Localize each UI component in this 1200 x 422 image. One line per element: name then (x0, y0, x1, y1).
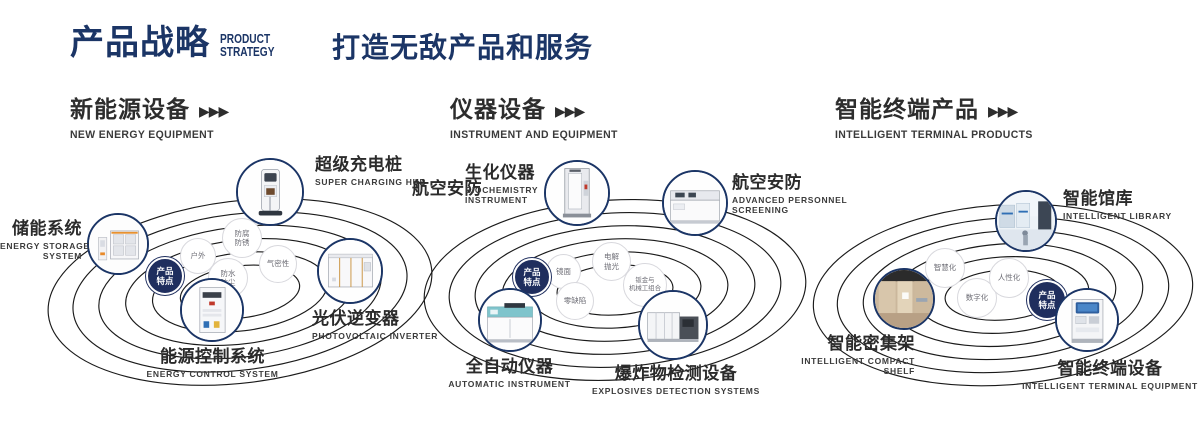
section-heading-intelligent: 智能终端产品 ▶▶▶ INTELLIGENT TERMINAL PRODUCTS (835, 98, 1043, 141)
caption-cn: 能源控制系统 (130, 348, 295, 366)
caption-en-line2: INSTRUMENT (465, 195, 585, 206)
feature-bubble-line2: 防锈 (235, 238, 250, 247)
caption-en: ENERGY CONTROL SYSTEM (130, 369, 295, 380)
caption-en: INTELLIGENT TERMINAL EQUIPMENT (1020, 381, 1200, 392)
feature-bubble-line1: 数字化 (966, 293, 989, 302)
chevron-triple-icon: ▶▶▶ (199, 104, 228, 118)
node-automatic-instrument[interactable] (478, 288, 542, 352)
feature-bubble: 气密性 (259, 245, 297, 283)
badge-line1: 产品 (156, 266, 173, 276)
caption-automatic-instrument: 全自动仪器 AUTOMATIC INSTRUMENT (432, 358, 587, 389)
feature-bubble-line1: 防水 (221, 269, 236, 278)
node-intelligent-terminal-equipment[interactable] (1055, 288, 1119, 352)
caption-en: INTELLIGENT LIBRARY (1063, 211, 1193, 222)
feature-bubble-line2: 抛光 (604, 262, 619, 271)
caption-intelligent-compact-shelf: 智能密集架 INTELLIGENT COMPACT SHELF (765, 335, 915, 377)
feature-bubble: 零缺陷 (556, 282, 594, 320)
feature-bubble-line1: 智慧化 (934, 263, 957, 272)
node-super-charging-hub[interactable] (236, 158, 304, 226)
caption-en-line2: SHELF (765, 366, 915, 377)
feature-bubble-line1: 电解 (604, 252, 619, 261)
cluster-instrument: 镜面 电解 抛光 零缺陷 钣金与 机械工组合 产品 特点 航空安防 (420, 160, 820, 410)
caption-biochemistry-instrument: 生化仪器 BIOCHEMISTRY INSTRUMENT (465, 164, 585, 206)
caption-cn: 生化仪器 (465, 164, 585, 182)
section-heading-cn: 新能源设备 ▶▶▶ (70, 98, 228, 121)
badge-line2: 特点 (156, 276, 173, 286)
badge-line1: 产品 (523, 267, 540, 277)
page-title: 产品战略 PRODUCT STRATEGY (70, 26, 290, 60)
feature-bubble-line1: 零缺陷 (564, 296, 587, 305)
caption-cn: 智能终端设备 (1020, 360, 1200, 378)
page-title-en: PRODUCT STRATEGY (220, 32, 274, 58)
node-personnel-screening[interactable] (662, 170, 728, 236)
chevron-triple-icon: ▶▶▶ (988, 104, 1017, 118)
badge-line1: 产品 (1038, 290, 1055, 300)
feature-bubble: 防腐 防锈 (222, 218, 262, 258)
page-title-en-line2: STRATEGY (220, 45, 274, 58)
node-energy-storage[interactable] (87, 213, 149, 275)
section-heading-label: 智能终端产品 (835, 98, 979, 121)
caption-intelligent-terminal-equipment: 智能终端设备 INTELLIGENT TERMINAL EQUIPMENT (1020, 360, 1200, 391)
section-heading-en: INSTRUMENT AND EQUIPMENT (450, 129, 618, 141)
section-heading-en: NEW ENERGY EQUIPMENT (70, 129, 220, 141)
caption-cn: 储能系统 (0, 220, 82, 238)
node-photovoltaic-inverter[interactable] (317, 238, 383, 304)
caption-en-line1: INTELLIGENT COMPACT (765, 356, 915, 367)
caption-en: ENERGY STORAGE SYSTEM (0, 241, 82, 262)
caption-en: AUTOMATIC INSTRUMENT (432, 379, 587, 390)
caption-en: INTELLIGENT COMPACT SHELF (765, 356, 915, 377)
feature-bubble-line1: 钣金与 (635, 277, 654, 285)
feature-bubble: 人性化 (989, 258, 1029, 298)
section-heading-label: 仪器设备 (450, 98, 546, 121)
caption-en: EXPLOSIVES DETECTION SYSTEMS (590, 386, 762, 397)
poster-canvas: 产品战略 PRODUCT STRATEGY 打造无敌产品和服务 新能源设备 ▶▶… (0, 0, 1200, 422)
feature-bubble-line1: 镜面 (556, 267, 571, 276)
caption-energy-control-system: 能源控制系统 ENERGY CONTROL SYSTEM (130, 348, 295, 379)
feature-bubble-line1: 气密性 (267, 259, 290, 268)
caption-energy-storage: 储能系统 ENERGY STORAGE SYSTEM (0, 220, 82, 262)
product-features-badge: 产品 特点 (146, 257, 184, 295)
caption-cn: 爆炸物检测设备 (590, 365, 762, 383)
badge-line2: 特点 (1038, 300, 1055, 310)
caption-intelligent-library: 智能馆库 INTELLIGENT LIBRARY (1063, 190, 1193, 221)
caption-cn: 智能密集架 (765, 335, 915, 353)
node-explosives-detection[interactable] (638, 290, 708, 360)
section-heading-en: INTELLIGENT TERMINAL PRODUCTS (835, 129, 1033, 141)
section-heading-instrument: 仪器设备 ▶▶▶ INSTRUMENT AND EQUIPMENT (450, 98, 627, 141)
caption-en-line1: ENERGY STORAGE (0, 241, 82, 252)
caption-en-line1: BIOCHEMISTRY (465, 185, 585, 196)
feature-bubble-line1: 防腐 (235, 229, 250, 238)
caption-cn: 智能馆库 (1063, 190, 1193, 208)
page-slogan: 打造无敌产品和服务 (332, 34, 593, 62)
badge-line2: 特点 (523, 277, 540, 287)
caption-explosives-detection: 爆炸物检测设备 EXPLOSIVES DETECTION SYSTEMS (590, 365, 762, 396)
caption-cn: 全自动仪器 (432, 358, 587, 376)
section-heading-new-energy: 新能源设备 ▶▶▶ NEW ENERGY EQUIPMENT (70, 98, 228, 141)
chevron-triple-icon: ▶▶▶ (555, 104, 584, 118)
node-intelligent-library[interactable] (995, 190, 1057, 252)
caption-en: BIOCHEMISTRY INSTRUMENT (465, 185, 585, 206)
section-heading-label: 新能源设备 (70, 98, 190, 121)
section-heading-cn: 智能终端产品 ▶▶▶ (835, 98, 1043, 121)
page-title-cn: 产品战略 (70, 26, 210, 60)
node-intelligent-compact-shelf[interactable] (873, 268, 935, 330)
feature-bubble-line1: 户外 (191, 251, 206, 260)
section-heading-cn: 仪器设备 ▶▶▶ (450, 98, 627, 121)
node-energy-control-system[interactable] (180, 278, 244, 342)
caption-en-line2: SYSTEM (0, 251, 82, 262)
cluster-intelligent: 智慧化 数字化 人性化 产品 特点 (805, 160, 1200, 410)
cluster-new-energy: 户外 防腐 防锈 防水 防尘 气密性 产品 特点 (40, 160, 440, 410)
feature-bubble-line1: 人性化 (998, 273, 1021, 282)
